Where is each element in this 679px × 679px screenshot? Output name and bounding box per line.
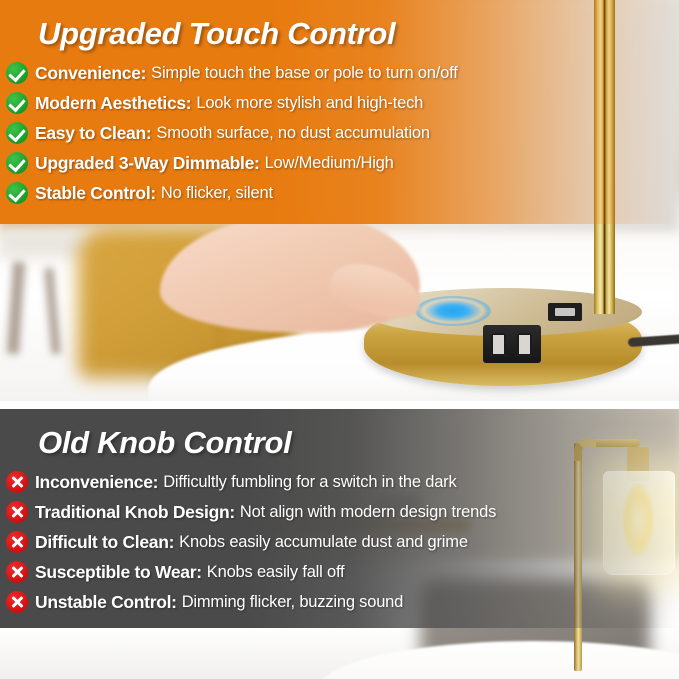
feature-value: Knobs easily fall off: [207, 563, 345, 582]
list-item: Inconvenience: Difficultly fumbling for …: [6, 467, 496, 497]
check-circle-icon: [6, 92, 28, 114]
check-circle-icon: [6, 62, 28, 84]
feature-value: Smooth surface, no dust accumulation: [156, 124, 429, 143]
blue-touch-ripple-icon: [415, 296, 491, 326]
feature-value: Difficultly fumbling for a switch in the…: [163, 473, 456, 492]
ac-outlet: [548, 303, 582, 321]
list-item: Unstable Control: Dimming flicker, buzzi…: [6, 587, 496, 617]
knob-control-section: Old Knob Control Inconvenience: Difficul…: [0, 409, 679, 679]
section-divider: [0, 401, 679, 409]
feature-value: Low/Medium/High: [265, 154, 394, 173]
cross-circle-icon: [6, 501, 28, 523]
touch-feature-list: Convenience: Simple touch the base or po…: [6, 58, 458, 208]
comparison-infographic: Upgraded Touch Control Convenience: Simp…: [0, 0, 679, 679]
cross-circle-icon: [6, 531, 28, 553]
page-title-bottom: Old Knob Control: [38, 425, 291, 461]
feature-label: Modern Aesthetics:: [35, 93, 191, 114]
usb-port-dual: [483, 325, 541, 363]
list-item: Convenience: Simple touch the base or po…: [6, 58, 458, 88]
feature-label: Upgraded 3-Way Dimmable:: [35, 153, 260, 174]
page-title-top: Upgraded Touch Control: [38, 16, 395, 52]
usb-port-left: [491, 333, 506, 356]
feature-value: Dimming flicker, buzzing sound: [182, 593, 403, 612]
feature-label: Convenience:: [35, 63, 146, 84]
feature-label: Unstable Control:: [35, 592, 177, 613]
check-circle-icon: [6, 182, 28, 204]
feature-label: Difficult to Clean:: [35, 532, 174, 553]
cross-circle-icon: [6, 591, 28, 613]
feature-value: Look more stylish and high-tech: [196, 94, 423, 113]
feature-value: Not align with modern design trends: [240, 503, 496, 522]
cross-circle-icon: [6, 471, 28, 493]
list-item: Susceptible to Wear: Knobs easily fall o…: [6, 557, 496, 587]
feature-value: Simple touch the base or pole to turn on…: [151, 64, 457, 83]
list-item: Stable Control: No flicker, silent: [6, 178, 458, 208]
feature-value: Knobs easily accumulate dust and grime: [179, 533, 468, 552]
feature-label: Inconvenience:: [35, 472, 158, 493]
feature-label: Traditional Knob Design:: [35, 502, 235, 523]
list-item: Upgraded 3-Way Dimmable: Low/Medium/High: [6, 148, 458, 178]
feature-value: No flicker, silent: [161, 184, 273, 203]
list-item: Easy to Clean: Smooth surface, no dust a…: [6, 118, 458, 148]
list-item: Traditional Knob Design: Not align with …: [6, 497, 496, 527]
check-circle-icon: [6, 122, 28, 144]
list-item: Modern Aesthetics: Look more stylish and…: [6, 88, 458, 118]
feature-label: Easy to Clean:: [35, 123, 151, 144]
cross-circle-icon: [6, 561, 28, 583]
check-circle-icon: [6, 152, 28, 174]
knob-feature-list: Inconvenience: Difficultly fumbling for …: [6, 467, 496, 617]
feature-label: Susceptible to Wear:: [35, 562, 202, 583]
touch-control-section: Upgraded Touch Control Convenience: Simp…: [0, 0, 679, 401]
usb-port-right: [517, 333, 532, 356]
list-item: Difficult to Clean: Knobs easily accumul…: [6, 527, 496, 557]
feature-label: Stable Control:: [35, 183, 156, 204]
